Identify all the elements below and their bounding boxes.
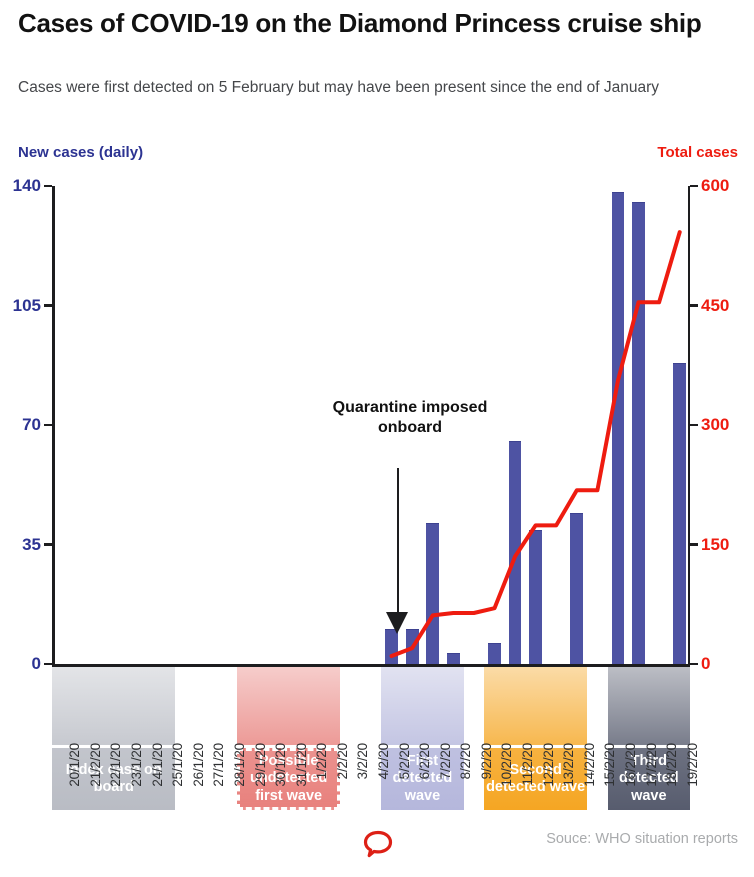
left-axis-tick — [44, 185, 52, 188]
x-axis-tick-label: 19/2/20 — [685, 743, 700, 787]
period-band-index-case-on-board — [52, 667, 175, 745]
left-axis-tick-label: 140 — [13, 176, 41, 196]
x-axis-tick-label: 3/2/20 — [355, 743, 370, 779]
source-note: Souce: WHO situation reports — [546, 831, 738, 847]
page-title: Cases of COVID-19 on the Diamond Princes… — [18, 8, 734, 39]
left-axis-legend: New cases (daily) — [18, 144, 143, 161]
right-axis-tick — [690, 424, 698, 427]
x-axis-tick-label: 4/2/20 — [376, 743, 391, 779]
x-axis-tick-label: 22/1/20 — [108, 743, 123, 787]
right-axis-legend: Total cases — [657, 144, 738, 161]
x-axis-tick-label: 31/1/20 — [294, 743, 309, 787]
x-axis-tick-label: 9/2/20 — [479, 743, 494, 779]
period-band-second-detected-wave — [484, 667, 587, 745]
x-axis-tick-label: 16/2/20 — [623, 743, 638, 787]
right-axis-tick — [690, 663, 698, 666]
x-axis-tick-label: 20/1/20 — [67, 743, 82, 787]
period-band-possible-undetected — [237, 667, 340, 745]
x-axis-tick-label: 10/2/20 — [499, 743, 514, 787]
right-axis-tick-label: 300 — [701, 415, 729, 435]
x-axis-tick-label: 28/1/20 — [232, 743, 247, 787]
right-axis-tick — [690, 543, 698, 546]
period-band-first-detected-wave — [381, 667, 463, 745]
x-axis-tick-label: 24/1/20 — [150, 743, 165, 787]
x-axis-tick-label: 7/2/20 — [438, 743, 453, 779]
conversation-speech-bubble-logo — [362, 828, 394, 860]
right-axis-tick-label: 150 — [701, 535, 729, 555]
chart-page: Cases of COVID-19 on the Diamond Princes… — [0, 0, 754, 877]
x-axis-tick-label: 30/1/20 — [273, 743, 288, 787]
left-axis-tick — [44, 543, 52, 546]
x-axis-tick-label: 12/2/20 — [541, 743, 556, 787]
right-axis-tick — [690, 304, 698, 307]
annotation-arrow-stem — [397, 468, 399, 618]
x-axis-tick-labels: 20/1/2021/2/2022/1/2023/1/2024/1/2025/1/… — [52, 667, 690, 747]
x-axis-tick-label: 27/1/20 — [211, 743, 226, 787]
left-axis-tick — [44, 424, 52, 427]
annotation-arrow-head-icon — [386, 612, 408, 634]
period-band-third-detected-wave — [608, 667, 690, 745]
left-axis-tick-label: 0 — [32, 654, 41, 674]
right-axis-tick-label: 450 — [701, 296, 729, 316]
quarantine-annotation-label: Quarantine imposed onboard — [320, 398, 500, 437]
x-axis-tick-label: 25/1/20 — [170, 743, 185, 787]
x-axis-tick-label: 5/2/20 — [397, 743, 412, 779]
right-axis-tick — [690, 185, 698, 188]
x-axis-tick-label: 14/2/20 — [582, 743, 597, 787]
x-axis-tick-label: 23/1/20 — [129, 743, 144, 787]
x-axis-tick-label: 11/2/20 — [520, 743, 535, 786]
left-axis-tick-label: 70 — [22, 415, 41, 435]
left-axis-tick-label: 35 — [22, 535, 41, 555]
left-axis-tick-label: 105 — [13, 296, 41, 316]
x-axis-tick-label: 15/2/20 — [602, 743, 617, 787]
left-axis-tick — [44, 304, 52, 307]
x-axis-tick-label: 13/2/20 — [561, 743, 576, 787]
x-axis-tick-label: 29/1/20 — [253, 743, 268, 787]
x-axis-tick-label: 8/2/20 — [458, 743, 473, 779]
left-axis-tick — [44, 663, 52, 666]
x-axis-tick-label: 18/2/20 — [664, 743, 679, 787]
x-axis-tick-label: 21/2/20 — [88, 743, 103, 787]
x-axis-tick-label: 1/2/20 — [314, 743, 329, 779]
right-axis-tick-label: 0 — [701, 654, 710, 674]
x-axis-tick-label: 2/2/20 — [335, 743, 350, 779]
right-axis-tick-label: 600 — [701, 176, 729, 196]
x-axis-tick-label: 26/1/20 — [191, 743, 206, 787]
x-axis-tick-label: 6/2/20 — [417, 743, 432, 779]
x-axis-tick-label: 17/2/20 — [644, 743, 659, 787]
page-subtitle: Cases were first detected on 5 February … — [18, 78, 718, 98]
